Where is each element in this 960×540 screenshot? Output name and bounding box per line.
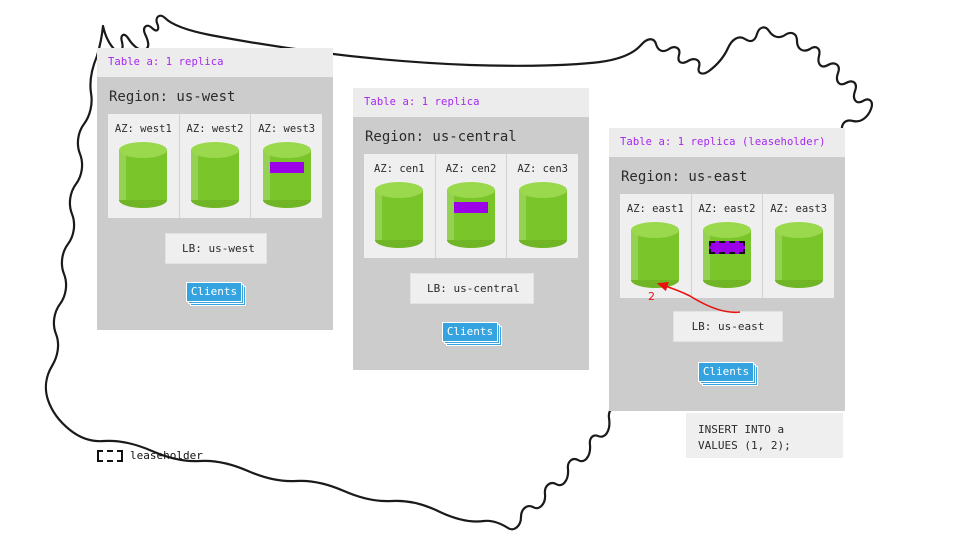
az-label-east1: AZ: east1 <box>620 203 691 215</box>
cylinder-sheen <box>775 232 782 280</box>
db-node-west3[interactable] <box>263 142 311 208</box>
az-cell-west3[interactable]: AZ: west3 <box>251 114 322 218</box>
db-node-west2[interactable] <box>191 142 239 208</box>
lb-us-central[interactable]: LB: us-central <box>410 273 534 304</box>
cylinder-sheen <box>119 152 126 200</box>
az-row-us-central: AZ: cen1 AZ: cen2 AZ: <box>364 154 578 258</box>
clients-label: Clients <box>442 322 498 342</box>
lb-us-west[interactable]: LB: us-west <box>165 233 267 264</box>
cylinder-sheen <box>519 192 526 240</box>
sql-statement-box: INSERT INTO a VALUES (1, 2); <box>686 413 843 458</box>
az-label-cen3: AZ: cen3 <box>507 163 578 175</box>
legend-label: leaseholder <box>130 449 203 462</box>
cylinder-top <box>191 142 239 158</box>
az-cell-west1[interactable]: AZ: west1 <box>108 114 180 218</box>
az-cell-cen1[interactable]: AZ: cen1 <box>364 154 436 258</box>
region-title-us-west: Region: us-west <box>97 77 333 114</box>
az-cell-east1[interactable]: AZ: east1 <box>620 194 692 298</box>
cylinder-sheen <box>263 152 270 200</box>
az-cell-west2[interactable]: AZ: west2 <box>180 114 252 218</box>
db-node-cen1[interactable] <box>375 182 423 248</box>
legend: leaseholder <box>97 449 203 462</box>
region-header-us-west: Table a: 1 replica <box>97 48 333 77</box>
diagram-canvas: leaseholder Table a: 1 replica Region: u… <box>0 0 960 540</box>
region-panel-us-central: Table a: 1 replica Region: us-central AZ… <box>353 88 589 370</box>
az-row-us-east: AZ: east1 AZ: east2 A <box>620 194 834 298</box>
replica-marker-west3 <box>270 162 304 173</box>
cylinder-top <box>703 222 751 238</box>
cylinder-sheen <box>191 152 198 200</box>
az-label-west2: AZ: west2 <box>180 123 251 135</box>
az-cell-east3[interactable]: AZ: east3 <box>763 194 834 298</box>
cylinder-sheen <box>631 232 638 280</box>
db-node-east1[interactable] <box>631 222 679 288</box>
az-label-east3: AZ: east3 <box>763 203 834 215</box>
clients-us-east[interactable]: Clients <box>698 362 758 384</box>
az-row-us-west: AZ: west1 AZ: west2 AZ: west3 <box>108 114 322 218</box>
db-node-cen2[interactable] <box>447 182 495 248</box>
cylinder-top <box>447 182 495 198</box>
db-node-east3[interactable] <box>775 222 823 288</box>
az-label-west3: AZ: west3 <box>251 123 322 135</box>
cylinder-top <box>775 222 823 238</box>
az-label-west1: AZ: west1 <box>108 123 179 135</box>
clients-us-central[interactable]: Clients <box>442 322 502 344</box>
region-header-us-central: Table a: 1 replica <box>353 88 589 117</box>
cylinder-top <box>631 222 679 238</box>
clients-label: Clients <box>698 362 754 382</box>
region-panel-us-west: Table a: 1 replica Region: us-west AZ: w… <box>97 48 333 330</box>
cylinder-sheen <box>447 192 454 240</box>
az-cell-cen2[interactable]: AZ: cen2 <box>436 154 508 258</box>
region-panel-us-east: Table a: 1 replica (leaseholder) Region:… <box>609 128 845 411</box>
region-title-us-east: Region: us-east <box>609 157 845 194</box>
clients-label: Clients <box>186 282 242 302</box>
cylinder-top <box>263 142 311 158</box>
az-label-east2: AZ: east2 <box>692 203 763 215</box>
az-cell-cen3[interactable]: AZ: cen3 <box>507 154 578 258</box>
cylinder-top <box>119 142 167 158</box>
az-cell-east2[interactable]: AZ: east2 <box>692 194 764 298</box>
lb-us-east[interactable]: LB: us-east <box>673 311 783 342</box>
arrow-step-label-2: 2 <box>648 290 655 303</box>
replica-marker-cen2 <box>454 202 488 213</box>
leaseholder-replica-marker-east2 <box>709 241 745 254</box>
region-header-us-east: Table a: 1 replica (leaseholder) <box>609 128 845 157</box>
db-node-cen3[interactable] <box>519 182 567 248</box>
cylinder-sheen <box>375 192 382 240</box>
az-label-cen2: AZ: cen2 <box>436 163 507 175</box>
region-title-us-central: Region: us-central <box>353 117 589 154</box>
db-node-east2[interactable] <box>703 222 751 288</box>
cylinder-top <box>375 182 423 198</box>
cylinder-top <box>519 182 567 198</box>
db-node-west1[interactable] <box>119 142 167 208</box>
az-label-cen1: AZ: cen1 <box>364 163 435 175</box>
cylinder-sheen <box>703 232 710 280</box>
clients-us-west[interactable]: Clients <box>186 282 246 304</box>
leaseholder-swatch-icon <box>97 450 123 462</box>
